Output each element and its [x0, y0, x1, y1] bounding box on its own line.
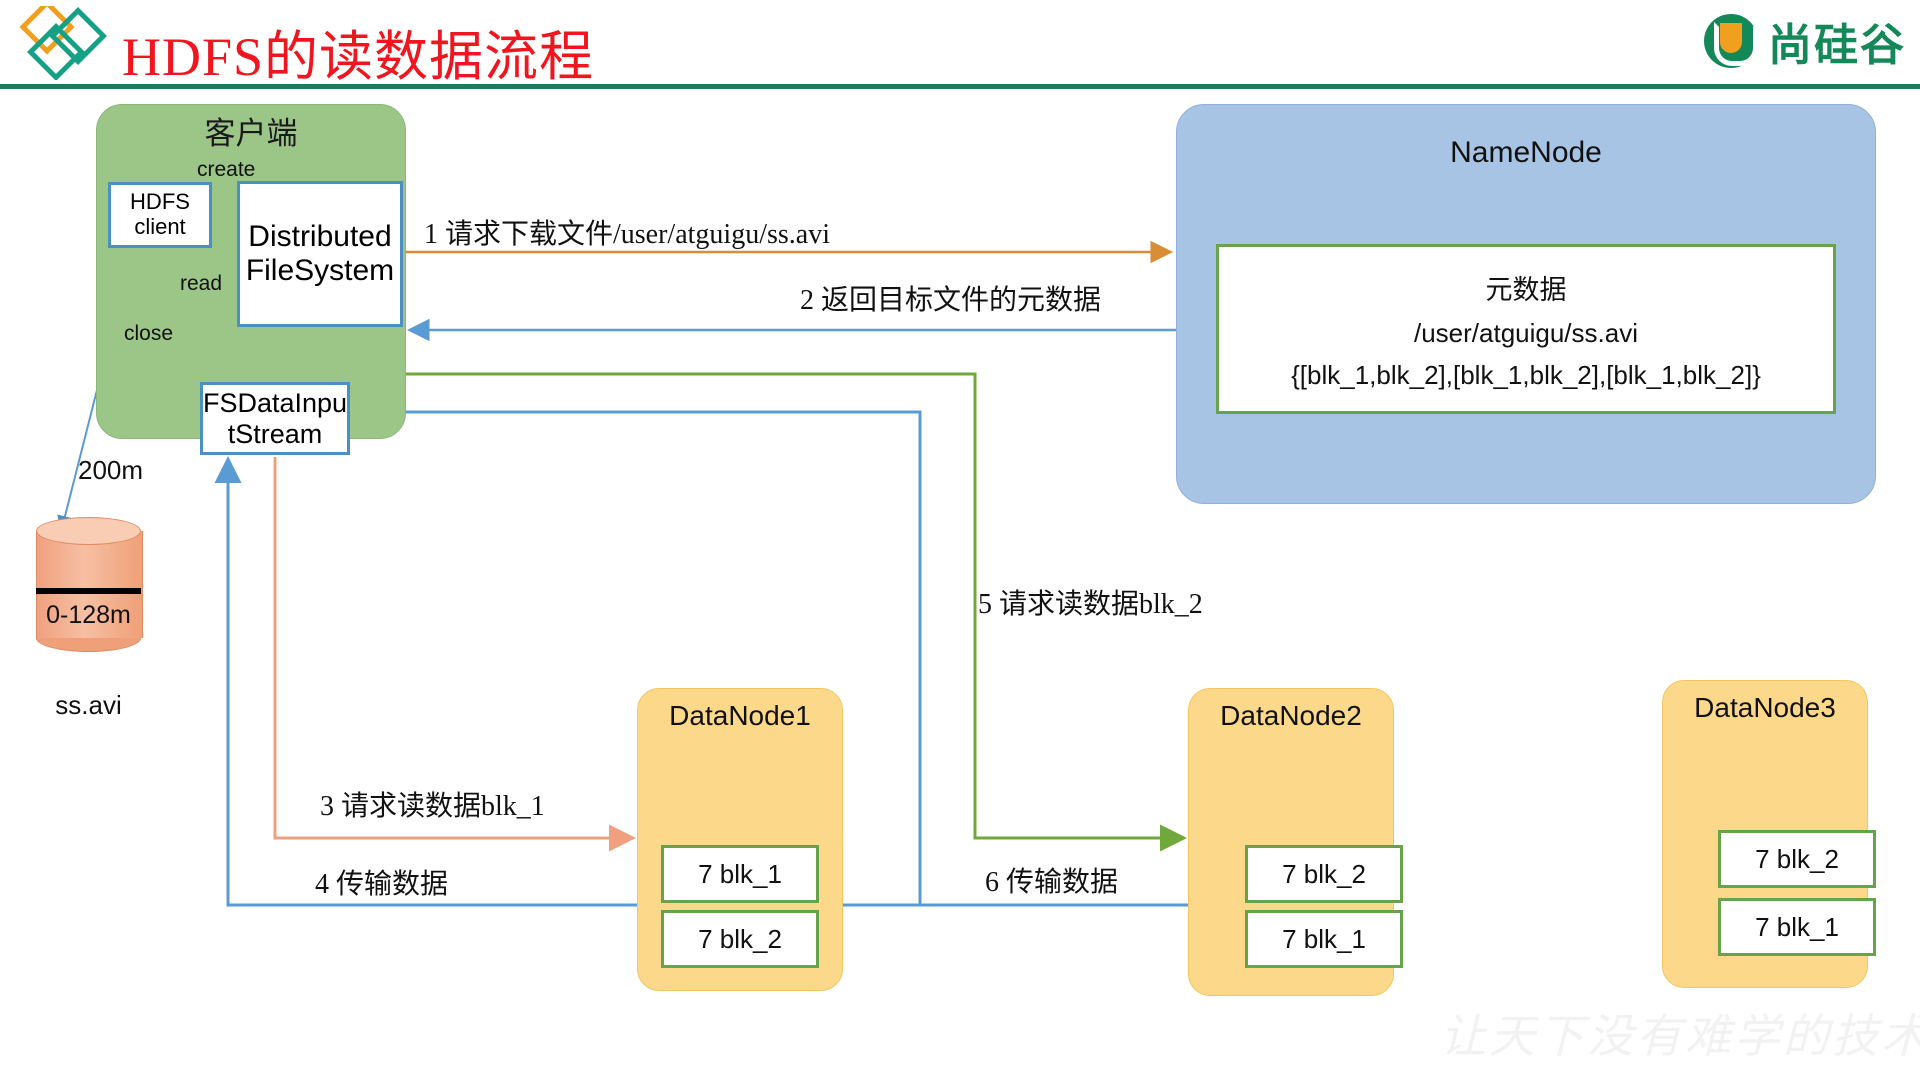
hdfs-client-line2: client [130, 215, 190, 240]
datanode-3-block-0[interactable]: 7 blk_2 [1718, 830, 1876, 888]
cylinder-top [36, 517, 141, 545]
watermark-text: 让天下没有难学的技术 [1440, 1000, 1920, 1066]
datanode-1-block-0[interactable]: 7 blk_1 [661, 845, 819, 903]
atguigu-u-icon [1704, 14, 1758, 68]
page-header: HDFS的读数据流程 尚硅谷 [0, 0, 1920, 88]
hdfs-client-box[interactable]: HDFS client [108, 182, 212, 248]
datanode-2-block-0[interactable]: 7 blk_2 [1245, 845, 1403, 903]
file-name-label: ss.avi [36, 690, 141, 721]
datanode-3-block-1[interactable]: 7 blk_1 [1718, 898, 1876, 956]
flow-label-3: 3 请求读数据blk_1 [320, 784, 545, 824]
distributed-filesystem-box[interactable]: Distributed FileSystem [237, 181, 403, 327]
file-cylinder-icon: 0-128m [36, 517, 141, 652]
metadata-path: /user/atguigu/ss.avi [1414, 318, 1638, 349]
label-read: read [180, 272, 222, 296]
metadata-title: 元数据 [1486, 268, 1567, 307]
hdfs-client-line1: HDFS [130, 190, 190, 215]
dfs-line2: FileSystem [246, 254, 394, 288]
brand-name: 尚硅谷 [1768, 9, 1906, 73]
fsdatainputstream-box[interactable]: FSDataInpu tStream [200, 382, 350, 455]
metadata-blocks: {[blk_1,blk_2],[blk_1,blk_2],[blk_1,blk_… [1291, 360, 1761, 391]
datanode-1-block-1[interactable]: 7 blk_2 [661, 910, 819, 968]
block-range-label: 0-128m [36, 601, 141, 630]
flow-label-5: 5 请求读数据blk_2 [978, 582, 1203, 622]
dfs-line1: Distributed [246, 220, 394, 254]
flow-label-4: 4 传输数据 [315, 862, 448, 902]
datanode-1-title: DataNode1 [637, 700, 843, 732]
cylinder-block-divider [36, 588, 141, 594]
fsdis-line1: FSDataInpu [203, 388, 347, 418]
flow-label-2: 2 返回目标文件的元数据 [800, 278, 1101, 318]
file-size-label: 200m [78, 455, 143, 486]
client-title: 客户端 [96, 108, 406, 153]
flow-label-1: 1 请求下载文件/user/atguigu/ss.avi [424, 212, 830, 252]
label-create: create [197, 158, 255, 182]
datanode-2-block-1[interactable]: 7 blk_1 [1245, 910, 1403, 968]
flow-label-6: 6 传输数据 [985, 860, 1118, 900]
namenode-metadata-box: 元数据 /user/atguigu/ss.avi {[blk_1,blk_2],… [1216, 244, 1836, 414]
diamonds-logo-icon [14, 6, 110, 80]
datanode-3-title: DataNode3 [1662, 692, 1868, 724]
header-divider [0, 84, 1920, 89]
datanode-2-title: DataNode2 [1188, 700, 1394, 732]
arrow-flow-3 [275, 457, 630, 838]
page-title: HDFS的读数据流程 [122, 12, 594, 91]
fsdis-line2: tStream [203, 419, 347, 449]
label-close: close [124, 322, 173, 346]
namenode-title: NameNode [1176, 136, 1876, 170]
brand-logo: 尚硅谷 [1704, 8, 1906, 74]
